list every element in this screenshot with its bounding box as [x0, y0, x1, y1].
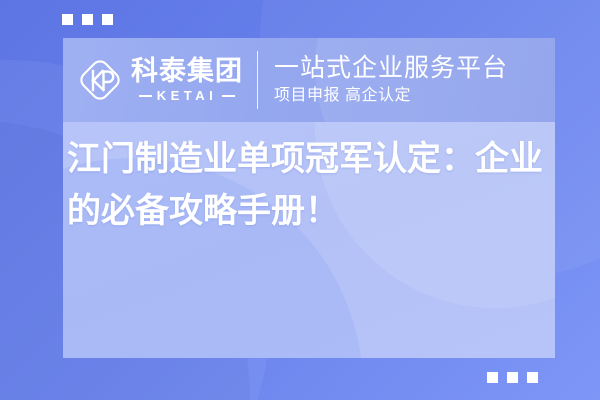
promo-banner: 科泰集团 KETAI 一站式企业服务平台 项目申报 高企认定 江门制造业单项冠军…: [0, 0, 600, 400]
company-latin-name: KETAI: [157, 88, 218, 103]
brand-logo-text: 科泰集团 KETAI: [131, 57, 243, 103]
rule-right-icon: [222, 95, 235, 97]
tagline-primary: 一站式企业服务平台: [274, 54, 508, 82]
decor-square-icon: [62, 14, 73, 25]
company-name: 科泰集团: [131, 57, 243, 85]
decor-square-icon: [102, 14, 113, 25]
header-divider: [257, 51, 258, 109]
decor-square-icon: [527, 372, 538, 383]
decor-square-icon: [487, 372, 498, 383]
decorative-dots-top-left: [62, 14, 113, 25]
decor-square-icon: [82, 14, 93, 25]
tagline-secondary: 项目申报 高企认定: [274, 86, 508, 107]
company-latin-row: KETAI: [131, 88, 243, 103]
decorative-dots-bottom-right: [487, 372, 538, 383]
rule-left-icon: [139, 95, 152, 97]
panel-header: 科泰集团 KETAI 一站式企业服务平台 项目申报 高企认定: [63, 38, 555, 122]
decor-square-icon: [507, 372, 518, 383]
tagline-block: 一站式企业服务平台 项目申报 高企认定: [274, 54, 508, 107]
brand-logo[interactable]: 科泰集团 KETAI: [75, 55, 243, 105]
ketai-diamond-kd-logo-icon: [75, 55, 125, 105]
content-panel: 科泰集团 KETAI 一站式企业服务平台 项目申报 高企认定 江门制造业单项冠军…: [63, 38, 555, 358]
headline-title: 江门制造业单项冠军认定：企业的必备攻略手册！: [63, 134, 555, 237]
